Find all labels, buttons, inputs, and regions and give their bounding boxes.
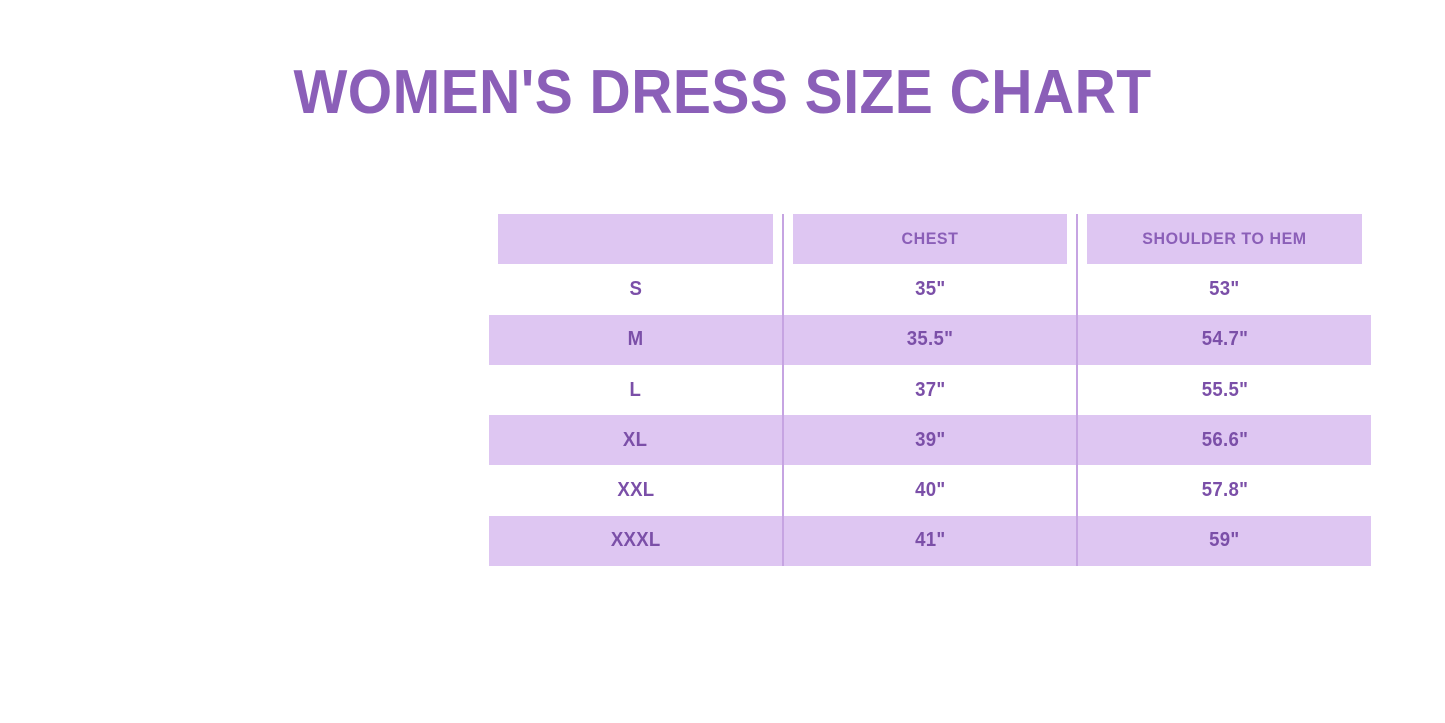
- cell-size-text: XL: [623, 429, 647, 452]
- cell-size: XXXL: [489, 516, 783, 566]
- cell-chest: 35.5": [783, 315, 1077, 365]
- column-header-shoulder-to-hem: SHOULDER TO HEM: [1086, 214, 1362, 264]
- cell-chest-text: 41": [915, 529, 945, 552]
- cell-chest-text: 39": [915, 429, 945, 452]
- cell-chest: 35": [783, 264, 1077, 314]
- cell-chest-text: 40": [915, 479, 945, 502]
- cell-size-text: S: [629, 278, 642, 301]
- table-row: L 37" 55.5": [489, 365, 1371, 415]
- cell-shoulder-to-hem: 53": [1077, 264, 1371, 314]
- cell-chest-text: 35.5": [907, 328, 953, 351]
- cell-shoulder-to-hem: 54.7": [1077, 315, 1371, 365]
- cell-size: L: [489, 365, 783, 415]
- cell-hem-text: 53": [1209, 278, 1239, 301]
- cell-shoulder-to-hem: 55.5": [1077, 365, 1371, 415]
- table-row: XXL 40" 57.8": [489, 465, 1371, 515]
- table-body: S 35" 53" M 35.5": [489, 264, 1371, 566]
- cell-chest: 41": [783, 516, 1077, 566]
- cell-chest: 37": [783, 365, 1077, 415]
- cell-shoulder-to-hem: 56.6": [1077, 415, 1371, 465]
- cell-chest: 40": [783, 465, 1077, 515]
- cell-size: XL: [489, 415, 783, 465]
- table-row: XXXL 41" 59": [489, 516, 1371, 566]
- cell-hem-text: 55.5": [1201, 379, 1247, 402]
- column-header-size: [498, 214, 774, 264]
- cell-size-text: XXXL: [611, 529, 661, 552]
- table-row: S 35" 53": [489, 264, 1371, 314]
- table-row: XL 39" 56.6": [489, 415, 1371, 465]
- cell-size: XXL: [489, 465, 783, 515]
- size-chart-table: CHEST SHOULDER TO HEM S 35" 53": [489, 214, 1371, 566]
- cell-size-text: M: [628, 328, 644, 351]
- cell-shoulder-to-hem: 57.8": [1077, 465, 1371, 515]
- cell-chest: 39": [783, 415, 1077, 465]
- cell-chest-text: 37": [915, 379, 945, 402]
- cell-size: M: [489, 315, 783, 365]
- cell-size-text: L: [630, 379, 642, 402]
- cell-shoulder-to-hem: 59": [1077, 516, 1371, 566]
- size-chart-container: CHEST SHOULDER TO HEM S 35" 53": [489, 214, 1371, 566]
- cell-hem-text: 57.8": [1201, 479, 1247, 502]
- cell-size: S: [489, 264, 783, 314]
- table-header-row: CHEST SHOULDER TO HEM: [489, 214, 1371, 264]
- cell-chest-text: 35": [915, 278, 945, 301]
- table-row: M 35.5" 54.7": [489, 315, 1371, 365]
- cell-size-text: XXL: [617, 479, 654, 502]
- page-title: WOMEN'S DRESS SIZE CHART: [58, 57, 1387, 129]
- cell-hem-text: 59": [1209, 529, 1239, 552]
- page-root: WOMEN'S DRESS SIZE CHART CHEST SHOULDER …: [0, 0, 1445, 723]
- column-header-chest: CHEST: [792, 214, 1068, 264]
- cell-hem-text: 56.6": [1201, 429, 1247, 452]
- cell-hem-text: 54.7": [1201, 328, 1247, 351]
- table-header: CHEST SHOULDER TO HEM: [489, 214, 1371, 264]
